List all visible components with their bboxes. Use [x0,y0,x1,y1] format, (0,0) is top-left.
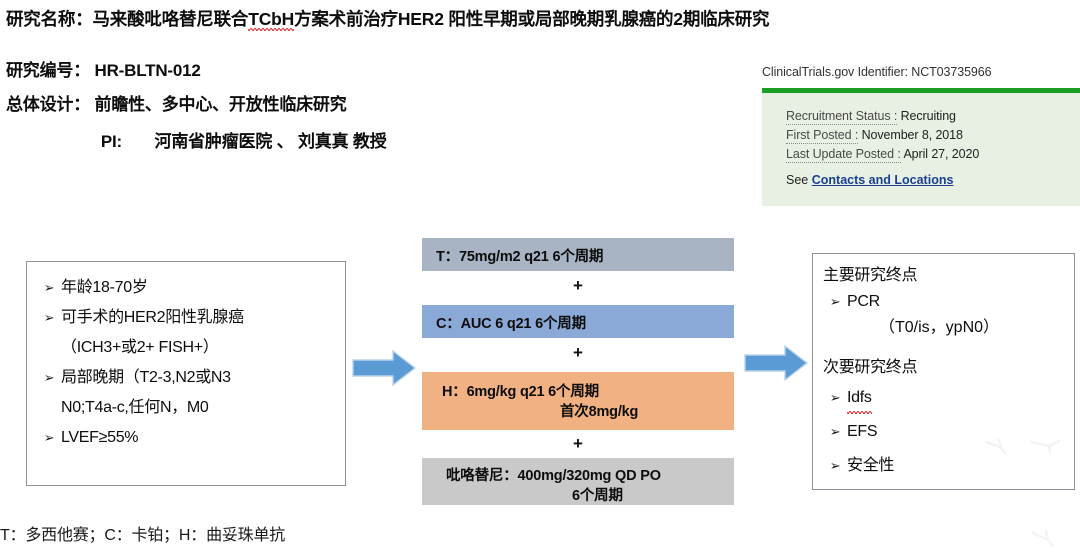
study-number-value: HR-BLTN-012 [95,61,201,80]
principal-investigator-value: 河南省肿瘤医院 、 刘真真 教授 [137,132,387,151]
regimen-box-carboplatin: C：AUC 6 q21 6个周期 [422,305,734,338]
first-posted-value: November 8, 2018 [862,128,963,142]
study-endpoints-box: 主要研究终点 ➢ PCR （T0/is，ypN0） 次要研究终点 ➢ Idfs … [812,253,1075,490]
endpoint-text: EFS [847,415,877,449]
arrow-criteria-to-regimen-icon [352,349,416,387]
principal-investigator-label: PI: [6,132,132,152]
plus-sign-2: + [422,343,734,363]
clinicaltrials-info-card: Recruitment Status : Recruiting First Po… [762,88,1080,206]
regimen-line: C：AUC 6 q21 6个周期 [436,312,734,333]
list-item: ➢ 可手术的HER2阳性乳腺癌 [37,303,337,333]
arrow-bullet-icon: ➢ [823,289,847,315]
recruitment-status-row: Recruitment Status : Recruiting [786,107,1080,126]
regimen-box-trastuzumab: H：6mg/kg q21 6个周期 首次8mg/kg [422,372,734,430]
arrow-bullet-icon: ➢ [37,273,61,303]
first-posted-label: First Posted : [786,128,858,144]
study-title-part2: 方案术前治疗HER2 阳性早期或局部晚期乳腺癌的2期临床研究 [294,9,769,29]
list-item: ➢ EFS [823,415,1068,449]
last-update-posted-label: Last Update Posted : [786,147,901,163]
plus-sign-1: + [422,276,734,296]
regimen-line-secondary: 首次8mg/kg [442,401,734,424]
contacts-and-locations-link[interactable]: Contacts and Locations [812,173,954,187]
contacts-and-locations-row: See Contacts and Locations [786,173,1080,187]
criteria-text: LVEF≥55% [61,423,138,453]
regimen-line: H：6mg/kg q21 6个周期 [442,380,734,401]
secondary-endpoint-heading: 次要研究终点 [823,355,1068,381]
abbreviations-footnote: T：多西他赛；C：卡铂；H：曲妥珠单抗 [0,521,285,545]
arrow-bullet-icon: ➢ [823,415,847,449]
list-item: ➢ 安全性 [823,449,1068,483]
criteria-text: 局部晚期（T2-3,N2或N3 [61,363,231,393]
eligibility-criteria-box: ➢ 年龄18-70岁 ➢ 可手术的HER2阳性乳腺癌 （ICH3+或2+ FIS… [26,261,346,486]
arrow-regimen-to-endpoints-icon [744,344,808,382]
list-item: ➢ 局部晚期（T2-3,N2或N3 [37,363,337,393]
criteria-text: 可手术的HER2阳性乳腺癌 [61,303,244,333]
study-design-label: 总体设计： [6,90,90,115]
study-title-spellcheck-term: TCbH [248,10,294,29]
see-text: See [786,173,808,187]
arrow-bullet-icon: ➢ [823,381,847,415]
primary-endpoint-heading: 主要研究终点 [823,263,1068,289]
study-number-label: 研究编号： [6,56,90,81]
endpoint-subtext: （T0/is，ypN0） [823,315,1068,341]
last-update-posted-value: April 27, 2020 [903,147,979,161]
list-item: ➢ 年龄18-70岁 [37,273,337,303]
criteria-subtext: （ICH3+或2+ FISH+） [37,333,337,363]
bird-watermark-icon [1030,527,1070,553]
last-update-posted-row: Last Update Posted : April 27, 2020 [786,145,1080,164]
arrow-bullet-icon: ➢ [823,449,847,483]
first-posted-row: First Posted : November 8, 2018 [786,126,1080,145]
list-item: ➢ Idfs [823,381,1068,415]
list-item: ➢ LVEF≥55% [37,423,337,453]
clinicaltrials-identifier: ClinicalTrials.gov Identifier: NCT037359… [762,65,991,79]
spacer [823,341,1068,355]
arrow-bullet-icon: ➢ [37,303,61,333]
regimen-box-docetaxel: T：75mg/m2 q21 6个周期 [422,238,734,271]
endpoint-text: 安全性 [847,449,894,483]
page-title: 研究名称：马来酸吡咯替尼联合TCbH方案术前治疗HER2 阳性早期或局部晚期乳腺… [6,10,1066,29]
regimen-line: T：75mg/m2 q21 6个周期 [436,245,734,266]
plus-sign-3: + [422,434,734,454]
list-item: ➢ PCR [823,289,1068,315]
regimen-line: 吡咯替尼：400mg/320mg QD PO [446,464,734,485]
study-number-row: 研究编号： HR-BLTN-012 [6,56,201,81]
study-title-label: 研究名称： [6,9,93,29]
criteria-text: 年龄18-70岁 [61,273,148,303]
criteria-subtext: N0;T4a-c,任何N，M0 [37,393,337,423]
arrow-bullet-icon: ➢ [37,423,61,453]
recruitment-status-value: Recruiting [901,109,956,123]
study-design-value: 前瞻性、多中心、开放性临床研究 [95,95,347,114]
endpoint-text: PCR [847,289,880,315]
study-title-part1: 马来酸吡咯替尼联合 [93,9,249,29]
regimen-line-secondary: 6个周期 [446,485,734,508]
endpoint-text: Idfs [847,381,872,415]
recruitment-status-label: Recruitment Status : [786,109,897,125]
study-design-row: 总体设计： 前瞻性、多中心、开放性临床研究 [6,90,347,115]
principal-investigator-row: PI: 河南省肿瘤医院 、 刘真真 教授 [6,127,387,152]
arrow-bullet-icon: ➢ [37,363,61,393]
regimen-box-pyrotinib: 吡咯替尼：400mg/320mg QD PO 6个周期 [422,458,734,505]
